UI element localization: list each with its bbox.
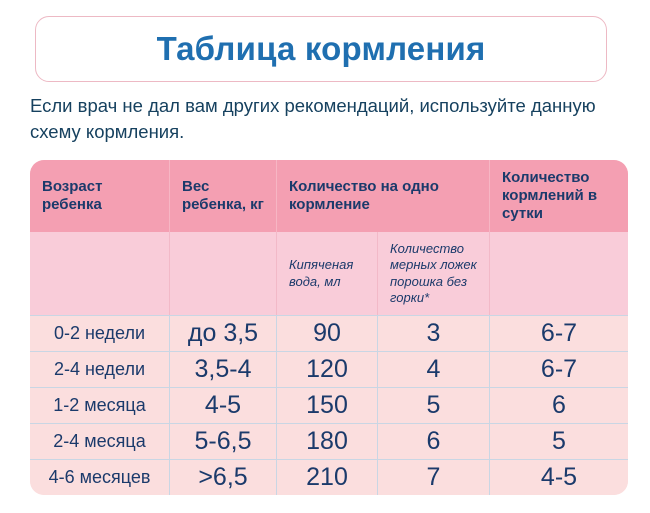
- cell-feedings: 6: [490, 388, 628, 423]
- cell-water: 150: [277, 388, 378, 423]
- header-feedings-per-day: Количество кормлений в сутки: [490, 160, 628, 232]
- cell-water: 120: [277, 352, 378, 387]
- cell-scoops: 6: [378, 424, 490, 459]
- cell-age: 0-2 недели: [30, 316, 170, 351]
- header-weight: Вес ребенка, кг: [170, 160, 277, 232]
- cell-scoops: 7: [378, 460, 490, 495]
- header-per-feeding: Количество на одно кормление: [277, 160, 490, 232]
- intro-text: Если врач не дал вам других рекомендаций…: [30, 93, 630, 144]
- cell-age: 4-6 месяцев: [30, 460, 170, 495]
- cell-feedings: 5: [490, 424, 628, 459]
- cell-weight: до 3,5: [170, 316, 277, 351]
- cell-weight: 3,5-4: [170, 352, 277, 387]
- cell-weight: >6,5: [170, 460, 277, 495]
- cell-water: 210: [277, 460, 378, 495]
- cell-feedings: 4-5: [490, 460, 628, 495]
- cell-water: 90: [277, 316, 378, 351]
- header-age: Возраст ребенка: [30, 160, 170, 232]
- subheader-scoops: Количество мерных ложек порошка без горк…: [378, 232, 490, 315]
- title-banner: Таблица кормления: [35, 16, 607, 82]
- cell-feedings: 6-7: [490, 352, 628, 387]
- cell-feedings: 6-7: [490, 316, 628, 351]
- subheader-water: Кипяченая вода, мл: [277, 232, 378, 315]
- table-subheader-row: Кипяченая вода, мл Количество мерных лож…: [30, 232, 628, 315]
- feeding-table: Возраст ребенка Вес ребенка, кг Количест…: [30, 160, 628, 495]
- subheader-feedings-empty: [490, 232, 628, 315]
- cell-scoops: 3: [378, 316, 490, 351]
- cell-weight: 5-6,5: [170, 424, 277, 459]
- cell-age: 2-4 месяца: [30, 424, 170, 459]
- page-title: Таблица кормления: [157, 30, 486, 68]
- table-row: 2-4 месяца 5-6,5 180 6 5: [30, 423, 628, 459]
- subheader-age-empty: [30, 232, 170, 315]
- cell-age: 2-4 недели: [30, 352, 170, 387]
- table-row: 1-2 месяца 4-5 150 5 6: [30, 387, 628, 423]
- cell-age: 1-2 месяца: [30, 388, 170, 423]
- cell-weight: 4-5: [170, 388, 277, 423]
- feeding-table-page: Таблица кормления Если врач не дал вам д…: [0, 0, 650, 513]
- table-row: 0-2 недели до 3,5 90 3 6-7: [30, 315, 628, 351]
- table-row: 2-4 недели 3,5-4 120 4 6-7: [30, 351, 628, 387]
- cell-scoops: 4: [378, 352, 490, 387]
- table-row: 4-6 месяцев >6,5 210 7 4-5: [30, 459, 628, 495]
- cell-water: 180: [277, 424, 378, 459]
- subheader-weight-empty: [170, 232, 277, 315]
- cell-scoops: 5: [378, 388, 490, 423]
- table-header-row: Возраст ребенка Вес ребенка, кг Количест…: [30, 160, 628, 232]
